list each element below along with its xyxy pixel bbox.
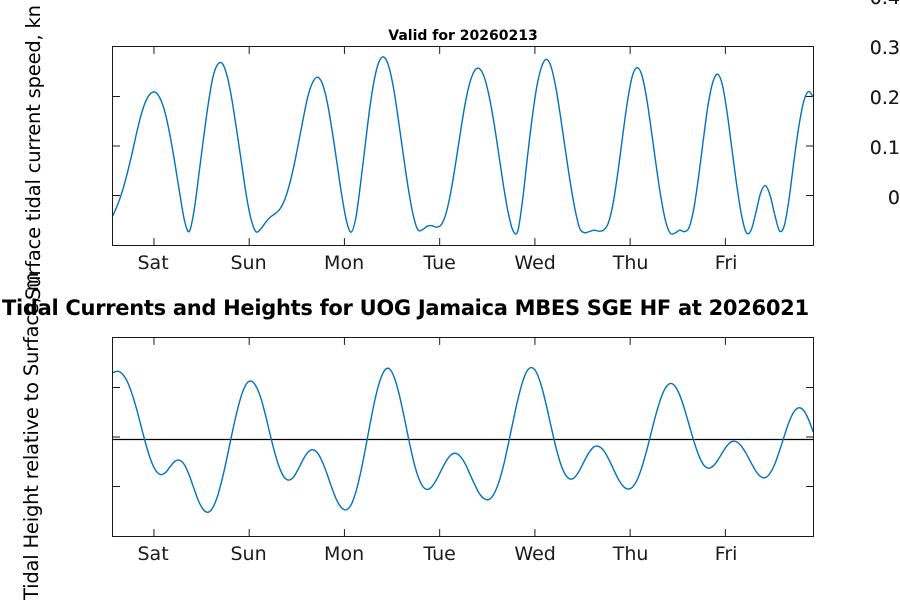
- y-tick-label: 0.2: [842, 87, 900, 109]
- tidal-figure: Surface tidal current speed, kn Tidal He…: [0, 0, 900, 600]
- y-tick-label: 0.1: [842, 137, 900, 159]
- x-tick-label: Sat: [108, 252, 198, 274]
- x-tick-label: Tue: [395, 252, 485, 274]
- bottom-chart-axes: [112, 337, 814, 537]
- x-tick-label: Mon: [299, 543, 389, 565]
- top-chart-axes: [112, 46, 814, 246]
- x-tick-label: Fri: [681, 543, 771, 565]
- top-chart-title: Valid for 20260213: [112, 28, 814, 44]
- x-tick-label: Mon: [299, 252, 389, 274]
- y-tick-label: 0: [842, 187, 900, 209]
- data-series-line: [113, 57, 813, 234]
- bottom-chart-x-tick-labels: SatSunMonTueWedThuFri: [112, 543, 814, 571]
- x-tick-label: Wed: [490, 252, 580, 274]
- top-chart-plot-area: [113, 47, 813, 245]
- x-tick-label: Fri: [681, 252, 771, 274]
- bottom-chart-y-axis-label: Tidal Height relative to Surface, m: [20, 272, 43, 600]
- y-tick-label: 0.3: [842, 37, 900, 59]
- x-tick-label: Sat: [108, 543, 198, 565]
- x-tick-label: Sun: [204, 543, 294, 565]
- bottom-chart-plot-area: [113, 338, 813, 536]
- x-tick-label: Tue: [395, 543, 485, 565]
- top-chart-x-tick-labels: SatSunMonTueWedThuFri: [112, 252, 814, 280]
- figure-title: Tidal Currents and Heights for UOG Jamai…: [2, 296, 900, 320]
- x-tick-label: Thu: [586, 543, 676, 565]
- x-tick-label: Thu: [586, 252, 676, 274]
- y-tick-label: 0.4: [842, 0, 900, 9]
- x-tick-label: Wed: [490, 543, 580, 565]
- top-chart-y-axis-label: Surface tidal current speed, kn: [22, 5, 45, 300]
- x-tick-label: Sun: [204, 252, 294, 274]
